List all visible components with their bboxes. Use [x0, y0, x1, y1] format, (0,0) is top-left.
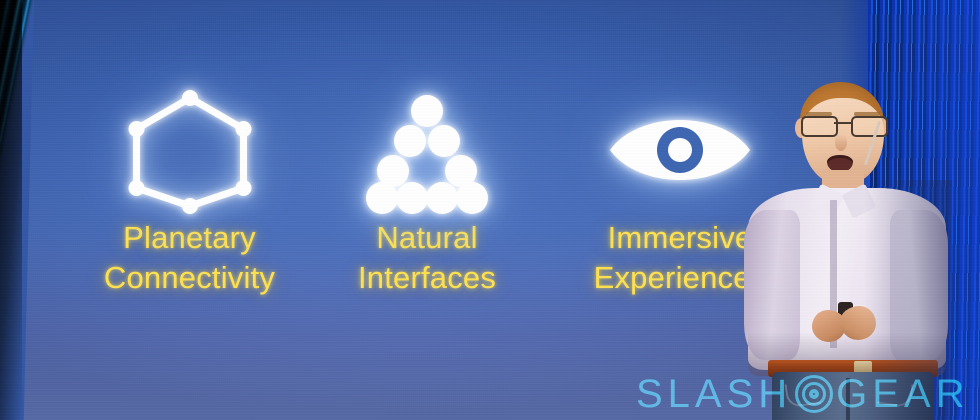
target-rings-logo-icon — [794, 374, 834, 414]
watermark-text-left: SLASH — [636, 374, 792, 414]
slide-label-line1: Natural — [312, 218, 542, 258]
left-stage-edge-shadow — [0, 0, 22, 420]
watermark-text-right: GEAR — [836, 374, 969, 414]
slide-label-line2: Interfaces — [312, 258, 542, 298]
eyeglass-bridge — [834, 122, 851, 124]
hexagon-network-icon-box — [62, 88, 317, 218]
slide-label-line2: Connectivity — [62, 258, 317, 298]
eyeglass-lens-right — [851, 116, 888, 137]
slashgear-watermark: SLASH GEAR — [636, 374, 970, 414]
eyeglass-lens-left — [801, 116, 838, 137]
hexagon-network-icon — [122, 90, 257, 218]
slide-column-natural-interfaces: Natural Interfaces — [312, 88, 542, 299]
speaker-nose — [835, 134, 847, 151]
dot-triangle-icon — [366, 94, 488, 216]
speaker-hand-right — [840, 306, 876, 340]
screenshot-root: Planetary Connectivity — [0, 0, 980, 420]
speaker-figure — [742, 60, 952, 420]
dot-triangle-icon-box — [312, 88, 542, 218]
eye-icon — [605, 104, 755, 196]
slide-label-line1: Planetary — [62, 218, 317, 258]
slide-column-planetary-connectivity: Planetary Connectivity — [62, 88, 317, 299]
